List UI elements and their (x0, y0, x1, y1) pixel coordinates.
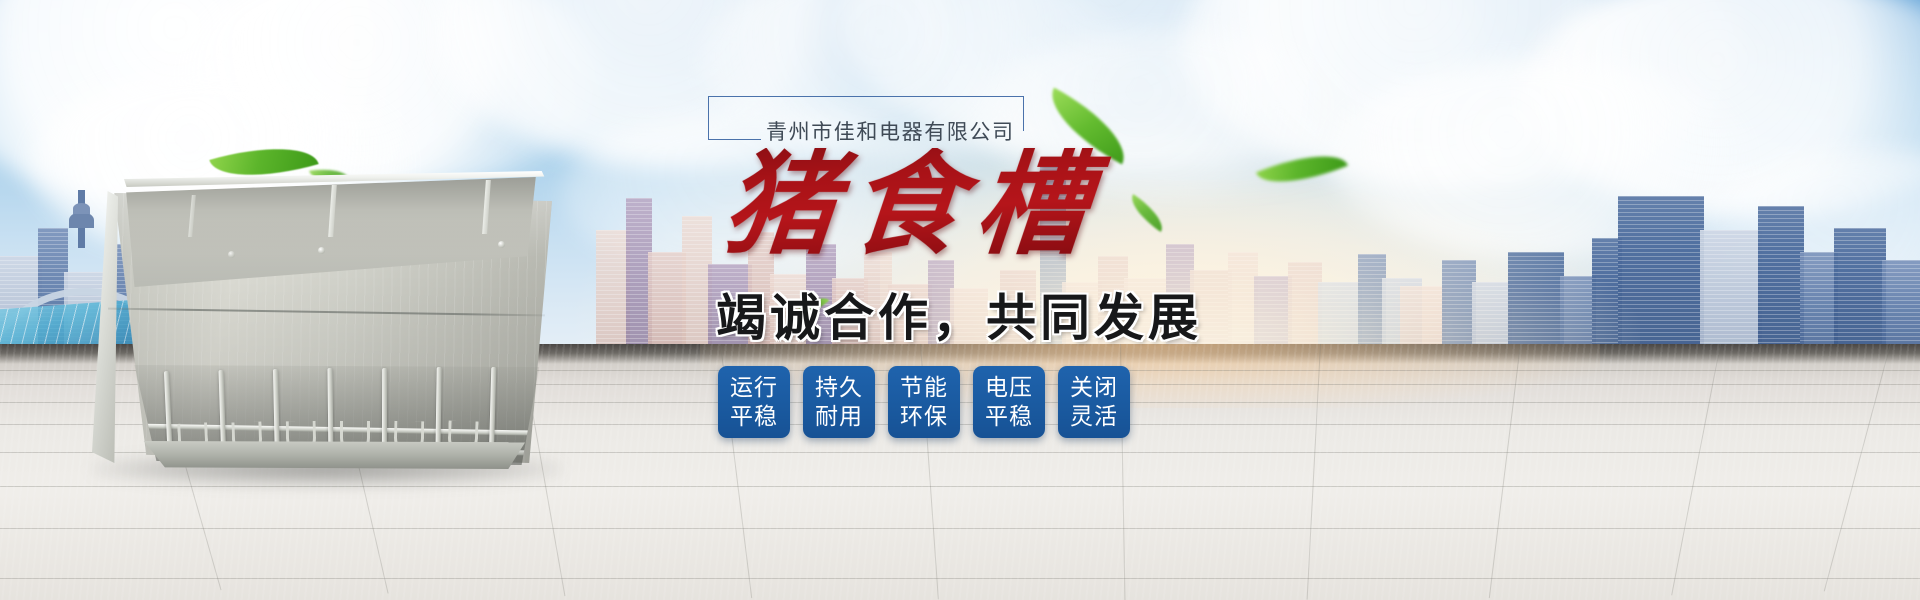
badge-line-2: 耐用 (815, 402, 863, 431)
promo-banner: 青州市佳和电器有限公司 猪食槽 竭诚合作，共同发展 运行 平稳 持久 耐用 节能… (0, 0, 1920, 600)
badge-line-1: 节能 (900, 373, 948, 402)
feature-badge[interactable]: 节能 环保 (888, 366, 960, 438)
headline-text-block: 青州市佳和电器有限公司 猪食槽 竭诚合作，共同发展 (700, 96, 1400, 350)
feeder-bolt (498, 241, 505, 248)
badge-line-2: 环保 (900, 402, 948, 431)
feeder-base-pan (114, 441, 538, 469)
subtitle-slogan: 竭诚合作，共同发展 (716, 278, 1400, 350)
feeder-bolt (228, 251, 235, 258)
badge-line-2: 平稳 (985, 402, 1033, 431)
page-title: 猪食槽 (719, 148, 1405, 264)
badge-line-1: 持久 (815, 373, 863, 402)
feature-badge[interactable]: 电压 平稳 (973, 366, 1045, 438)
feature-badge-list: 运行 平稳 持久 耐用 节能 环保 电压 平稳 关闭 灵活 (718, 366, 1130, 438)
badge-line-1: 关闭 (1070, 373, 1118, 402)
feature-badge[interactable]: 持久 耐用 (803, 366, 875, 438)
badge-line-2: 平稳 (730, 402, 778, 431)
feeder-bolt (318, 247, 325, 254)
company-name-frame: 青州市佳和电器有限公司 (708, 96, 1038, 142)
company-name: 青州市佳和电器有限公司 (766, 116, 1015, 146)
badge-line-1: 电压 (985, 373, 1033, 402)
feature-badge[interactable]: 关闭 灵活 (1058, 366, 1130, 438)
feature-badge[interactable]: 运行 平稳 (718, 366, 790, 438)
badge-line-2: 灵活 (1070, 402, 1118, 431)
product-image-pig-feeder (78, 165, 570, 470)
feeder-left-edge (92, 191, 118, 463)
badge-line-1: 运行 (730, 373, 778, 402)
